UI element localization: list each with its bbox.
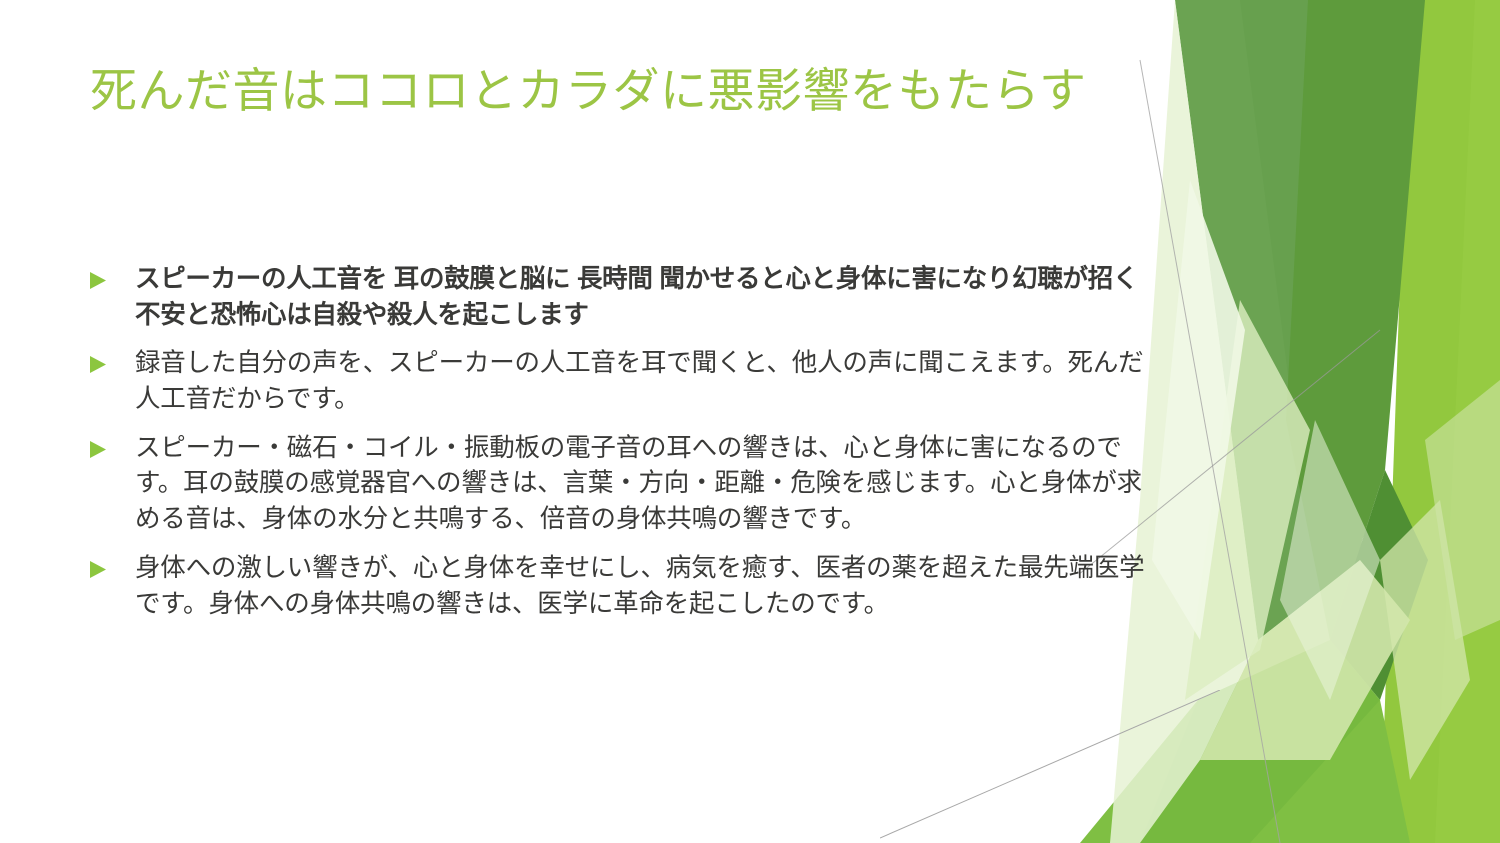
facet-shape-pale-5 — [1425, 380, 1500, 640]
bullet-text-3: スピーカー・磁石・コイル・振動板の電子音の耳への響きは、心と身体に害になるのです… — [135, 431, 1163, 538]
list-item: スピーカー・磁石・コイル・振動板の電子音の耳への響きは、心と身体に害になるのです… — [88, 431, 1163, 538]
bullet-text-2: 録音した自分の声を、スピーカーの人工音を耳で聞くと、他人の声に聞こえます。死んだ… — [135, 346, 1163, 417]
facet-shape-pale-4 — [1380, 500, 1470, 780]
facet-shape-sage-top-dark — [1240, 0, 1410, 540]
triangle-right-bullet-icon — [88, 346, 135, 374]
bullet-text-4: 身体への激しい響きが、心と身体を幸せにし、病気を癒す、医者の薬を超えた最先端医学… — [135, 551, 1163, 622]
triangle-right-bullet-icon — [88, 431, 135, 459]
triangle-right-bullet-icon — [88, 551, 135, 579]
slide-title: 死んだ音はココロとカラダに悪影響をもたらす — [90, 62, 1180, 119]
list-item: 録音した自分の声を、スピーカーの人工音を耳で聞くと、他人の声に聞こえます。死んだ… — [88, 346, 1163, 417]
facet-shape-dark-wedge-lower — [1330, 470, 1428, 700]
triangle-right-bullet-icon — [88, 262, 135, 290]
facet-shape-dark-wedge — [1286, 0, 1425, 640]
presentation-slide: 死んだ音はココロとカラダに悪影響をもたらす スピーカーの人工音を 耳の鼓膜と脳に… — [0, 0, 1500, 843]
bullet-text-1: スピーカーの人工音を 耳の鼓膜と脳に 長時間 聞かせると心と身体に害になり幻聴が… — [135, 262, 1163, 333]
facet-shape-pale-1 — [1200, 560, 1410, 760]
background-hairline — [880, 690, 1220, 843]
facet-shape-sage-top — [1175, 0, 1410, 640]
list-item: 身体への激しい響きが、心と身体を幸せにし、病気を癒す、医者の薬を超えた最先端医学… — [88, 551, 1163, 622]
facet-shape-mid-lower-2 — [1140, 640, 1380, 843]
facet-shape-pale-3 — [1185, 300, 1310, 700]
facet-shape-bright-right — [1380, 0, 1500, 843]
slide-body-content: スピーカーの人工音を 耳の鼓膜と脳に 長時間 聞かせると心と身体に害になり幻聴が… — [88, 262, 1163, 635]
list-item: スピーカーの人工音を 耳の鼓膜と脳に 長時間 聞かせると心と身体に害になり幻聴が… — [88, 262, 1163, 333]
facet-shape-faint-1 — [1152, 180, 1245, 640]
facet-shape-bright-right-2 — [1435, 0, 1500, 843]
facet-shape-mid-lower — [1080, 700, 1410, 843]
facet-shape-faint-2 — [1280, 420, 1380, 700]
